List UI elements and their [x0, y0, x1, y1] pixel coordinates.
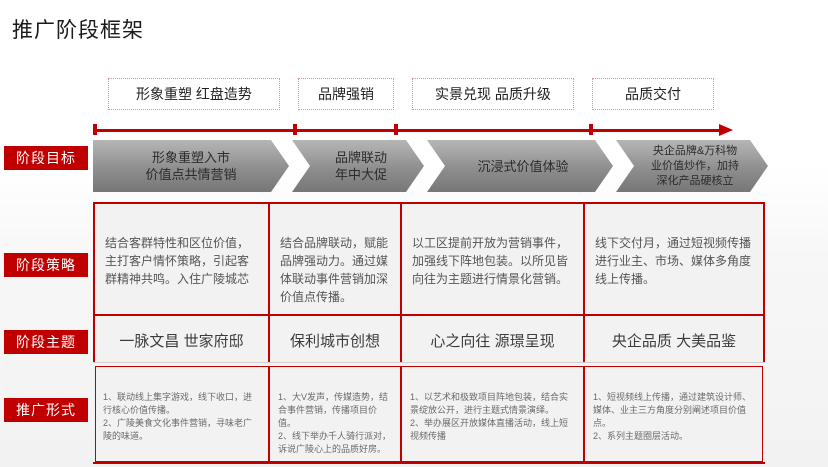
table-divider-strategy-theme	[93, 314, 765, 316]
page-title: 推广阶段框架	[12, 14, 144, 44]
theme-cell-2-text: 保利城市创想	[290, 330, 380, 351]
goal-chevron-1-text: 形象重塑入市 价值点共情营销	[145, 149, 236, 183]
form-cell-4-text: 1、短视频线上传播，通过建筑设计师、媒体、业主三方角度分别阐述项目价值点。 2、…	[593, 392, 751, 441]
form-cell-3-text: 1、以艺术和极致项目阵地包装，结合实景绽放公开，进行主题式情景演绎。 2、举办展…	[410, 392, 568, 441]
phase-box-4-label: 品质交付	[625, 84, 681, 104]
timeline-line	[93, 129, 723, 132]
row-label-strategy-text: 阶段策略	[16, 255, 76, 275]
phase-box-2[interactable]: 品牌强销	[298, 78, 394, 110]
goal-chevron-row: 形象重塑入市 价值点共情营销 品牌联动 年中大促 沉浸式价值体验 央企品牌&万科…	[93, 140, 793, 192]
form-cell-3: 1、以艺术和极致项目阵地包装，结合实景绽放公开，进行主题式情景演绎。 2、举办展…	[402, 368, 583, 462]
form-cell-1-text: 1、联动线上集字游戏，线下收口，进行核心价值传播。 2、广陵美食文化事件营销，寻…	[103, 392, 252, 441]
phase-box-1[interactable]: 形象重塑 红盘造势	[108, 78, 280, 110]
goal-chevron-4[interactable]: 央企品牌&万科物 业价值炒作，加持 深化产品硬核立	[616, 140, 768, 192]
goal-chevron-2-text: 品牌联动 年中大促	[335, 149, 387, 183]
table-vline-right	[763, 202, 765, 362]
row-label-goal: 阶段目标	[4, 146, 88, 170]
slide-canvas: 推广阶段框架 形象重塑 红盘造势 品牌强销 实景兑现 品质升级 品质交付 阶段目…	[0, 0, 828, 467]
row-label-theme: 阶段主题	[4, 330, 88, 354]
table-divider-theme-form	[93, 362, 765, 363]
theme-cell-1: 一脉文昌 世家府邸	[95, 318, 268, 362]
timeline-tick-4	[589, 124, 593, 135]
theme-cell-4-text: 央企品质 大美品鉴	[612, 330, 736, 351]
row-label-goal-text: 阶段目标	[16, 148, 76, 168]
form-cell-4: 1、短视频线上传播，通过建筑设计师、媒体、业主三方角度分别阐述项目价值点。 2、…	[585, 368, 763, 462]
table-bottom-border	[93, 462, 765, 464]
goal-chevron-1[interactable]: 形象重塑入市 价值点共情营销	[93, 140, 289, 192]
strategy-cell-3: 以工区提前开放为营销事件，加强线下阵地包装。以所见皆向往为主题进行情景化营销。	[402, 210, 583, 310]
timeline-tick-2	[293, 124, 297, 135]
theme-cell-2: 保利城市创想	[270, 318, 400, 362]
theme-cell-1-text: 一脉文昌 世家府邸	[119, 330, 243, 351]
phase-box-3[interactable]: 实景兑现 品质升级	[412, 78, 574, 110]
goal-chevron-2[interactable]: 品牌联动 年中大促	[292, 140, 424, 192]
theme-cell-3: 心之向往 源璟呈现	[402, 318, 583, 362]
phase-box-2-label: 品牌强销	[318, 84, 374, 104]
phase-box-4[interactable]: 品质交付	[592, 78, 714, 110]
timeline-axis	[93, 124, 741, 138]
table-top-border	[93, 202, 765, 204]
strategy-cell-2: 结合品牌联动，赋能品牌强动力。通过媒体联动事件营销加深价值点传播。	[270, 210, 400, 310]
row-label-form-text: 推广形式	[16, 400, 76, 420]
row-label-theme-text: 阶段主题	[16, 332, 76, 352]
phase-table: 结合客群特性和区位价值，主打客户情怀策略，引起客群精神共鸣。入住广陵城芯 结合品…	[93, 202, 765, 464]
goal-chevron-4-text: 央企品牌&万科物 业价值炒作，加持 深化产品硬核立	[651, 144, 739, 189]
goal-chevron-3[interactable]: 沉浸式价值体验	[427, 140, 613, 192]
form-cell-1: 1、联动线上集字游戏，线下收口，进行核心价值传播。 2、广陵美食文化事件营销，寻…	[95, 368, 268, 462]
goal-chevron-3-text: 沉浸式价值体验	[477, 158, 568, 175]
form-cell-2: 1、大V发声，传媒造势，结合事件营销，传播项目价值。 2、线下举办千人骑行派对，…	[270, 368, 400, 462]
strategy-cell-1: 结合客群特性和区位价值，主打客户情怀策略，引起客群精神共鸣。入住广陵城芯	[95, 210, 268, 310]
phase-box-1-label: 形象重塑 红盘造势	[136, 84, 252, 104]
form-cell-2-text: 1、大V发声，传媒造势，结合事件营销，传播项目价值。 2、线下举办千人骑行派对，…	[278, 392, 391, 454]
row-label-form: 推广形式	[4, 398, 88, 422]
theme-cell-4: 央企品质 大美品鉴	[585, 318, 763, 362]
strategy-cell-4-text: 线下交付月，通过短视频传播进行业主、市场、媒体多角度线上传播。	[595, 236, 751, 286]
row-label-strategy: 阶段策略	[4, 253, 88, 277]
phase-box-3-label: 实景兑现 品质升级	[435, 84, 551, 104]
timeline-arrowhead-icon	[719, 124, 733, 136]
strategy-cell-1-text: 结合客群特性和区位价值，主打客户情怀策略，引起客群精神共鸣。入住广陵城芯	[105, 236, 249, 286]
strategy-cell-2-text: 结合品牌联动，赋能品牌强动力。通过媒体联动事件营销加深价值点传播。	[280, 236, 388, 304]
theme-cell-3-text: 心之向往 源璟呈现	[430, 330, 554, 351]
strategy-cell-4: 线下交付月，通过短视频传播进行业主、市场、媒体多角度线上传播。	[585, 210, 763, 310]
strategy-cell-3-text: 以工区提前开放为营销事件，加强线下阵地包装。以所见皆向往为主题进行情景化营销。	[412, 236, 568, 286]
timeline-tick-3	[394, 124, 398, 135]
timeline-tick-1	[93, 124, 97, 135]
